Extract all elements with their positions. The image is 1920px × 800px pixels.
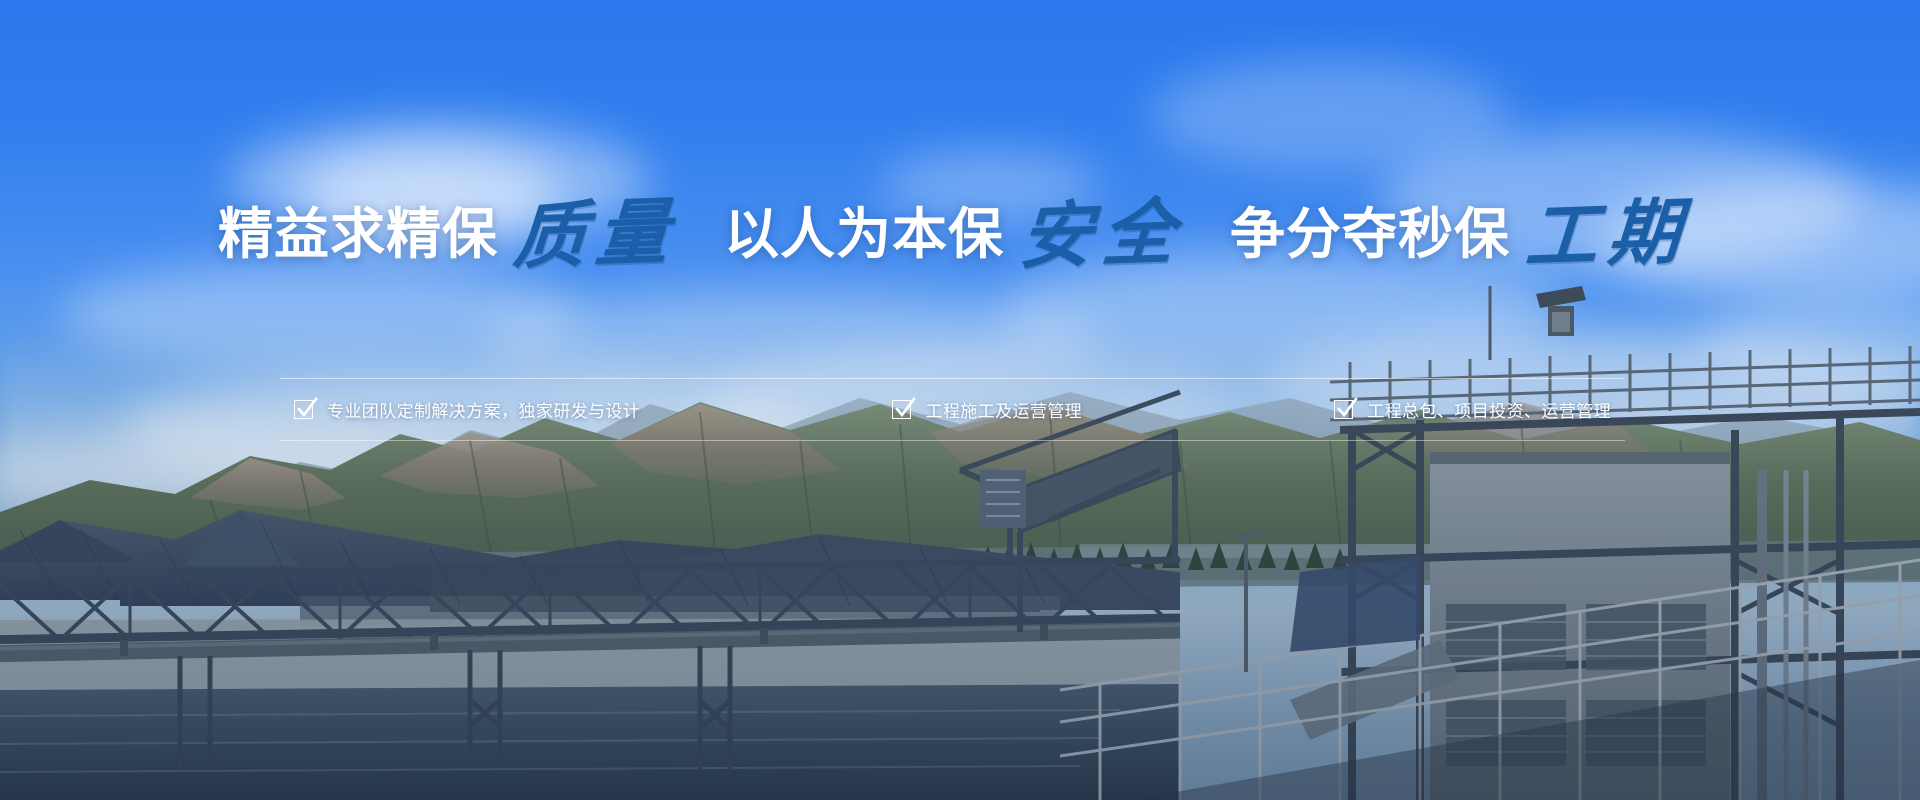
checkbox-checked-icon xyxy=(294,400,313,419)
feature-item-solutions[interactable]: 专业团队定制解决方案，独家研发与设计 xyxy=(294,397,640,422)
feature-item-construction[interactable]: 工程施工及运营管理 xyxy=(892,397,1082,422)
feature-block: 专业团队定制解决方案，独家研发与设计 工程施工及运营管理 工程总包、项目投资、运… xyxy=(280,378,1625,441)
headline-segment-2: 以人为本保 xyxy=(724,207,1004,262)
plant-building-roof xyxy=(1290,556,1420,652)
headline: 精益求精保质量以人为本保安全争分夺秒保工期 xyxy=(0,198,1920,270)
headline-segment-1: 精益求精保 xyxy=(218,207,498,262)
feature-item-epc[interactable]: 工程总包、项目投资、运营管理 xyxy=(1334,397,1611,422)
headline-keyword-schedule: 工期 xyxy=(1523,195,1693,273)
basin-water xyxy=(0,684,1180,800)
feature-label: 专业团队定制解决方案，独家研发与设计 xyxy=(327,397,640,422)
checkbox-checked-icon xyxy=(892,400,911,419)
feature-label: 工程施工及运营管理 xyxy=(925,397,1082,422)
headline-segment-3: 争分夺秒保 xyxy=(1230,207,1510,262)
checkbox-checked-icon xyxy=(1334,400,1353,419)
hero-banner: 精益求精保质量以人为本保安全争分夺秒保工期 专业团队定制解决方案，独家研发与设计 xyxy=(0,0,1920,800)
headline-keyword-safety: 安全 xyxy=(1017,195,1187,273)
headline-keyword-quality: 质量 xyxy=(511,195,681,273)
light-pole xyxy=(1236,532,1262,672)
light-fixture xyxy=(1536,286,1586,336)
divider-bottom xyxy=(280,440,1625,441)
feature-label: 工程总包、项目投资、运营管理 xyxy=(1367,397,1611,422)
feature-list: 专业团队定制解决方案，独家研发与设计 工程施工及运营管理 工程总包、项目投资、运… xyxy=(280,379,1625,440)
